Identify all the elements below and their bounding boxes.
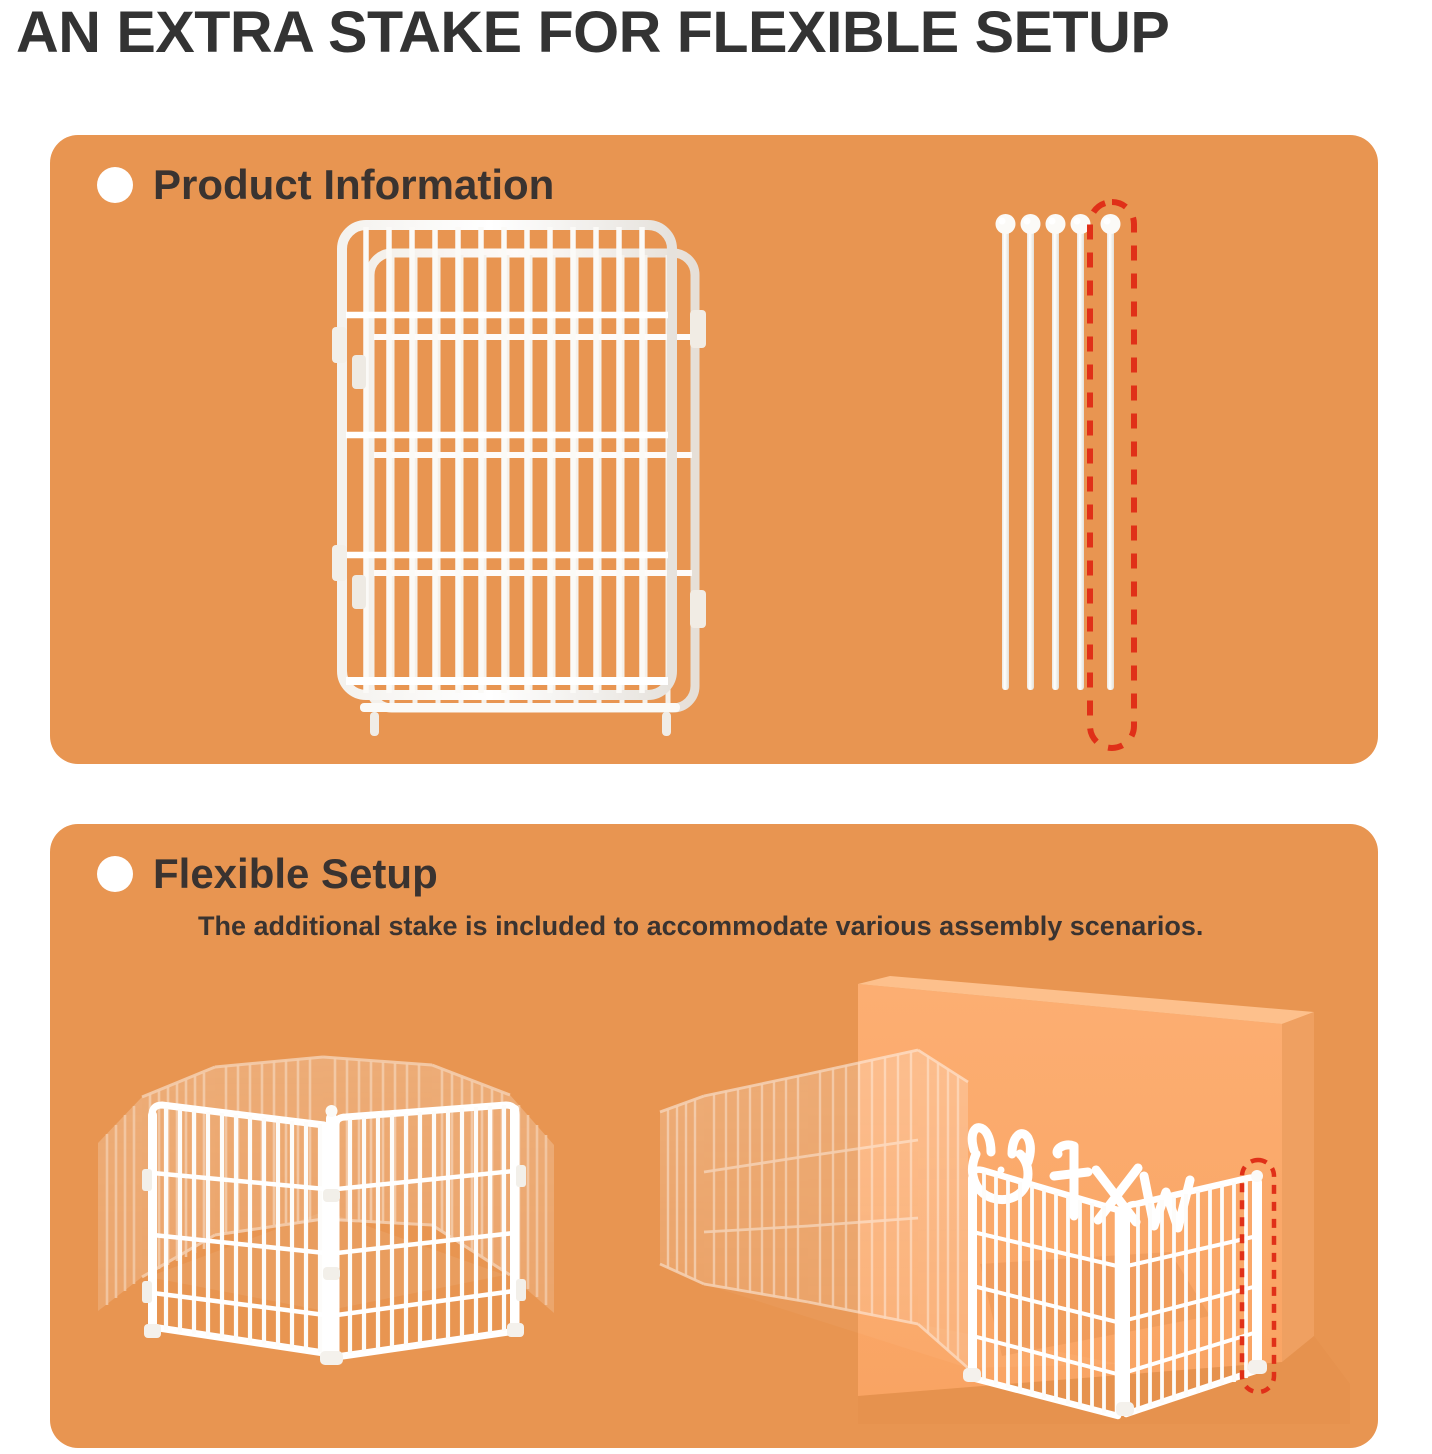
flexible-setup-subtitle: The additional stake is included to acco… (198, 910, 1203, 942)
octagon-playpen-figure (80, 1039, 610, 1399)
flexible-setup-heading: Flexible Setup (153, 852, 438, 896)
bullet-dot-icon (97, 167, 133, 203)
wall-mounted-pen-figure (650, 964, 1350, 1424)
stake-1 (996, 214, 1016, 690)
playpen-panel-back (370, 253, 706, 708)
stake-set-figure (930, 190, 1150, 760)
playpen-panel-front (332, 225, 672, 695)
page-title: AN EXTRA STAKE FOR FLEXIBLE SETUP (16, 2, 1432, 64)
bullet-dot-icon (97, 856, 133, 892)
stake-5-highlighted (1101, 214, 1121, 690)
stake-3 (1046, 214, 1066, 690)
flexible-setup-header: Flexible Setup (97, 852, 438, 896)
panel-product-information: Product Information (50, 135, 1378, 764)
product-information-heading: Product Information (153, 163, 554, 207)
playpen-base-bar (360, 703, 680, 736)
product-information-header: Product Information (97, 163, 554, 207)
playpen-panel-pair-figure (330, 215, 830, 745)
panel-flexible-setup: Flexible Setup The additional stake is i… (50, 824, 1378, 1448)
stake-2 (1021, 214, 1041, 690)
